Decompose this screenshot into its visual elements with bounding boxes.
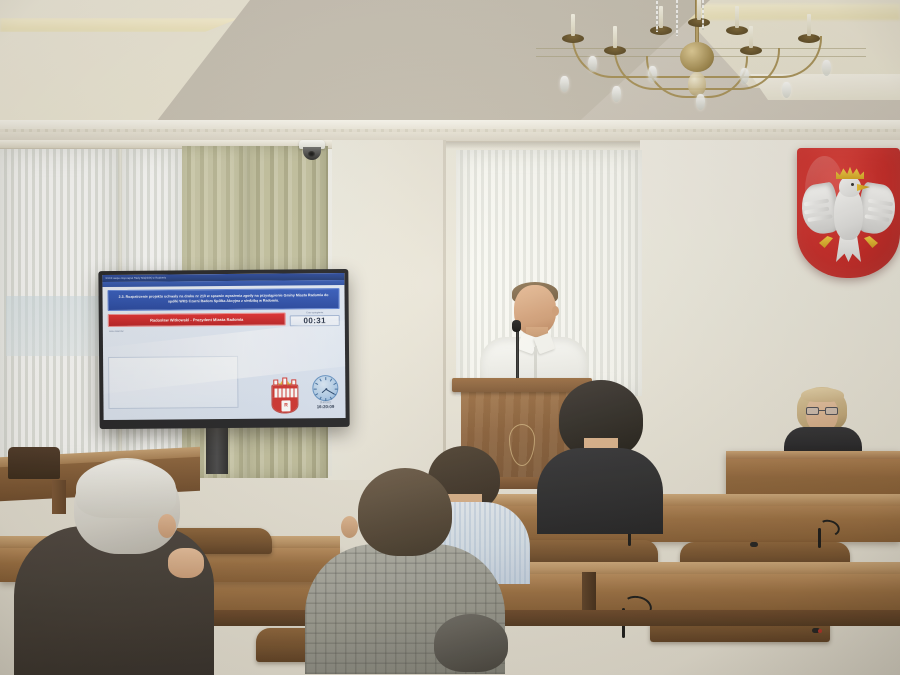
seated-official (784, 387, 862, 455)
eagle-eye (851, 183, 854, 186)
podium-microphone-head (512, 320, 521, 332)
speaker-row: Radosław Witkowski - Prezydent Miasta Ra… (108, 312, 340, 328)
timer-caption: Czas wystąpienia (306, 312, 323, 314)
right-desk-top (726, 451, 900, 459)
eagle-crown-icon (836, 166, 864, 179)
timer-box: Czas wystąpienia 00:31 (290, 312, 340, 326)
chandelier-body (680, 42, 714, 72)
eagle-claw-right (864, 236, 878, 248)
titlebar-underline (102, 280, 344, 287)
chandelier-finial (688, 72, 706, 96)
official-glasses-icon (806, 407, 838, 415)
audience-head-partial (434, 614, 508, 672)
microphone-head-1 (750, 542, 758, 547)
speaker-name: Radosław Witkowski - Prezydent Miasta Ra… (150, 317, 243, 323)
audience-partial-head (0, 396, 560, 675)
eagle-claw-left (819, 236, 833, 248)
cornice-molding (0, 120, 900, 142)
camera-lens (308, 151, 315, 157)
agenda-item-text: 2.3. Rozpatrzenie projektu uchwały na dr… (116, 293, 332, 306)
microphone-indicator (818, 629, 822, 633)
dome-camera-icon (299, 140, 325, 162)
glasses-lens-left (806, 407, 819, 415)
glasses-lens-right (825, 407, 838, 415)
speaker-list-caption: Lista mówców: (109, 329, 345, 333)
window-glass-1 (6, 296, 106, 356)
speaker-ear (552, 306, 559, 316)
polish-coat-of-arms (797, 148, 900, 278)
council-chamber-photo: XXXII sesja zwyczajna Rady Miejskiej w R… (0, 0, 900, 675)
speech-timer: 00:31 (290, 315, 340, 326)
timer-value: 00:31 (303, 316, 326, 325)
white-eagle-icon (803, 164, 894, 268)
speaker-banner: Radosław Witkowski - Prezydent Miasta Ra… (108, 312, 286, 327)
agenda-panel: 2.3. Rozpatrzenie projektu uchwały na dr… (107, 288, 339, 311)
official-fringe (801, 388, 844, 402)
session-title: XXXII sesja zwyczajna Rady Miejskiej w R… (105, 277, 166, 281)
cove-light-left (0, 18, 240, 32)
chandelier (536, 0, 866, 115)
